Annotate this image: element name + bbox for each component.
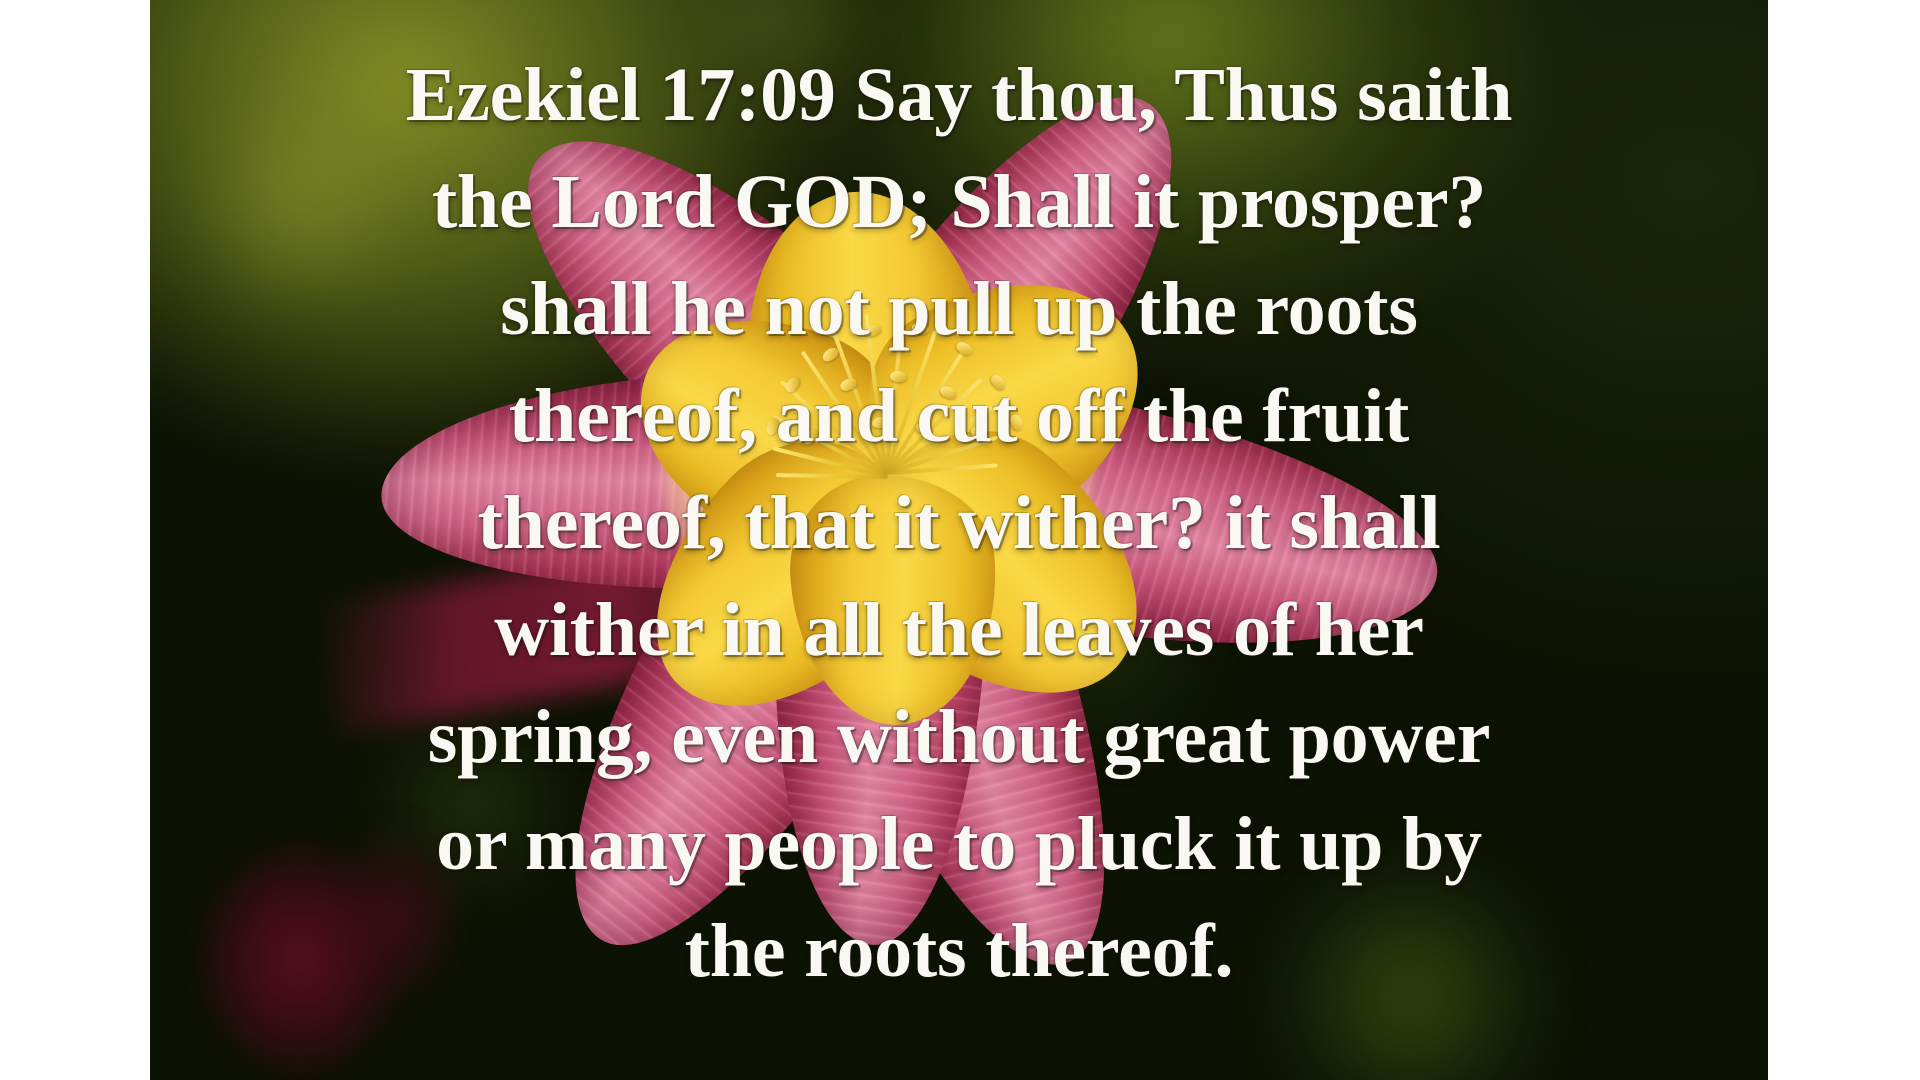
columbine-flower <box>150 0 1768 1080</box>
page-root: Ezekiel 17:09 Say thou, Thus saith the L… <box>0 0 1920 1080</box>
flower-photograph <box>150 0 1768 1080</box>
